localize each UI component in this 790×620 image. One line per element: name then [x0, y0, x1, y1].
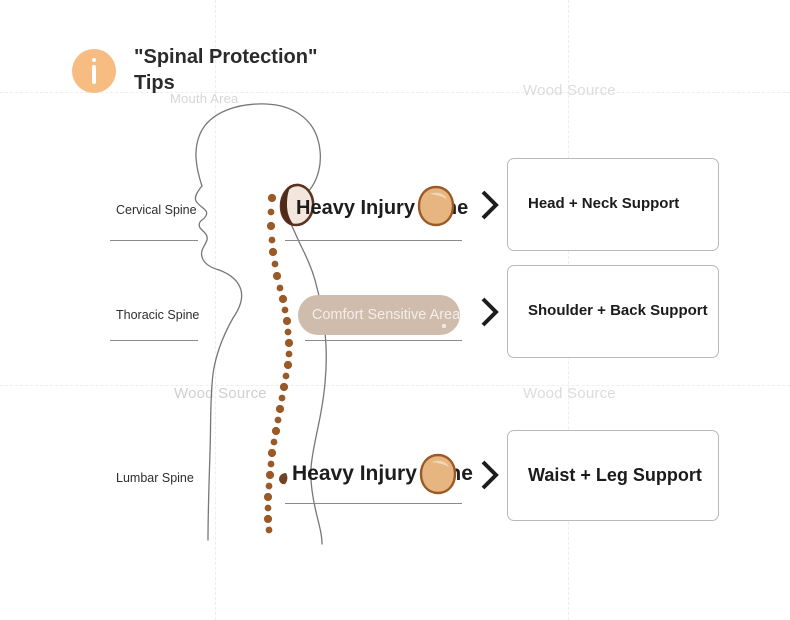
chevron-right-icon — [483, 299, 496, 325]
spine-dot-4 — [269, 248, 277, 256]
lumbar-zone-blob-small — [278, 472, 290, 486]
spine-dot-19 — [275, 417, 282, 424]
spine-label-thoracic: Thoracic Spine — [116, 308, 199, 322]
spine-dot-1 — [268, 209, 275, 216]
spine-dot-3 — [269, 237, 276, 244]
spine-dot-10 — [283, 317, 291, 325]
spine-dot-29 — [266, 527, 273, 534]
spine-dot-27 — [265, 505, 272, 512]
comfort-sensitive-area-label: Comfort Sensitive Area — [298, 307, 460, 323]
leader-lumbar-right — [285, 503, 462, 504]
watermark-wood-source-2: Wood Source — [174, 385, 267, 402]
info-icon — [72, 49, 116, 93]
spine-dot-5 — [272, 261, 279, 268]
leader-thoracic-right — [305, 340, 462, 341]
watermark-wood-source-1: Wood Source — [523, 82, 616, 99]
header: "Spinal Protection" Tips — [72, 47, 344, 96]
comfort-sensitive-area-pill: Comfort Sensitive Area — [298, 295, 460, 335]
canvas: Mouth AreaWood SourceWood SourceWood Sou… — [0, 0, 790, 620]
spine-dot-22 — [268, 449, 276, 457]
spine-dot-11 — [285, 329, 292, 336]
spine-dot-17 — [279, 395, 286, 402]
lumbar-zone-blob-gold — [419, 453, 457, 495]
card-head-neck-support[interactable]: Head + Neck Support — [507, 158, 719, 251]
spine-dot-15 — [283, 373, 290, 380]
spine-label-lumbar: Lumbar Spine — [116, 471, 194, 485]
spine-dot-21 — [271, 439, 278, 446]
spine-dot-28 — [264, 515, 272, 523]
spine-dot-12 — [285, 339, 293, 347]
spine-dot-23 — [268, 461, 275, 468]
spine-dot-8 — [279, 295, 287, 303]
spine-dot-0 — [268, 194, 276, 202]
chevron-right-icon — [483, 462, 496, 488]
card-label-head-neck-support: Head + Neck Support — [508, 195, 679, 213]
spine-dot-13 — [286, 351, 293, 358]
spine-dot-25 — [266, 483, 273, 490]
spine-dot-20 — [272, 427, 280, 435]
spine-dot-26 — [264, 493, 272, 501]
chevron-waist-leg — [477, 458, 503, 492]
grid-line-horizontal-1 — [0, 385, 790, 386]
spine-dot-2 — [267, 222, 275, 230]
card-label-shoulder-back-support: Shoulder + Back Support — [508, 302, 708, 320]
watermark-wood-source-3: Wood Source — [523, 385, 616, 402]
chevron-head-neck — [477, 188, 503, 222]
spine-dot-14 — [284, 361, 292, 369]
spine-dot-6 — [273, 272, 281, 280]
comfort-pill-speck — [442, 324, 446, 328]
spine-dot-7 — [277, 285, 284, 292]
card-label-waist-leg-support: Waist + Leg Support — [508, 465, 702, 487]
leader-thoracic-left — [110, 340, 198, 341]
leader-cervical-right — [285, 240, 462, 241]
cervical-zone-blob-gold — [417, 185, 455, 227]
leader-cervical-left — [110, 240, 198, 241]
info-icon-stem — [92, 65, 96, 84]
spine-dot-9 — [282, 307, 289, 314]
card-waist-leg-support[interactable]: Waist + Leg Support — [507, 430, 719, 521]
chevron-shoulder-back — [477, 295, 503, 329]
info-icon-dot — [92, 58, 96, 62]
spine-label-cervical: Cervical Spine — [116, 203, 197, 217]
spine-dot-18 — [276, 405, 284, 413]
page-title: "Spinal Protection" Tips — [134, 45, 344, 96]
chevron-right-icon — [483, 192, 496, 218]
card-shoulder-back-support[interactable]: Shoulder + Back Support — [507, 265, 719, 358]
spine-dot-24 — [266, 471, 274, 479]
